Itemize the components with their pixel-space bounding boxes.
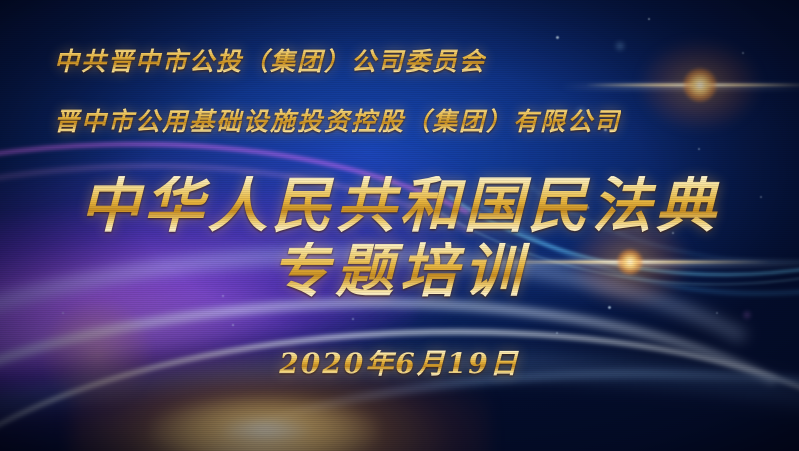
presentation-title-slide: 中共晋中市公投（集团）公司委员会 晋中市公用基础设施投资控股（集团）有限公司 中… xyxy=(0,0,799,451)
scanline-texture xyxy=(0,0,799,451)
